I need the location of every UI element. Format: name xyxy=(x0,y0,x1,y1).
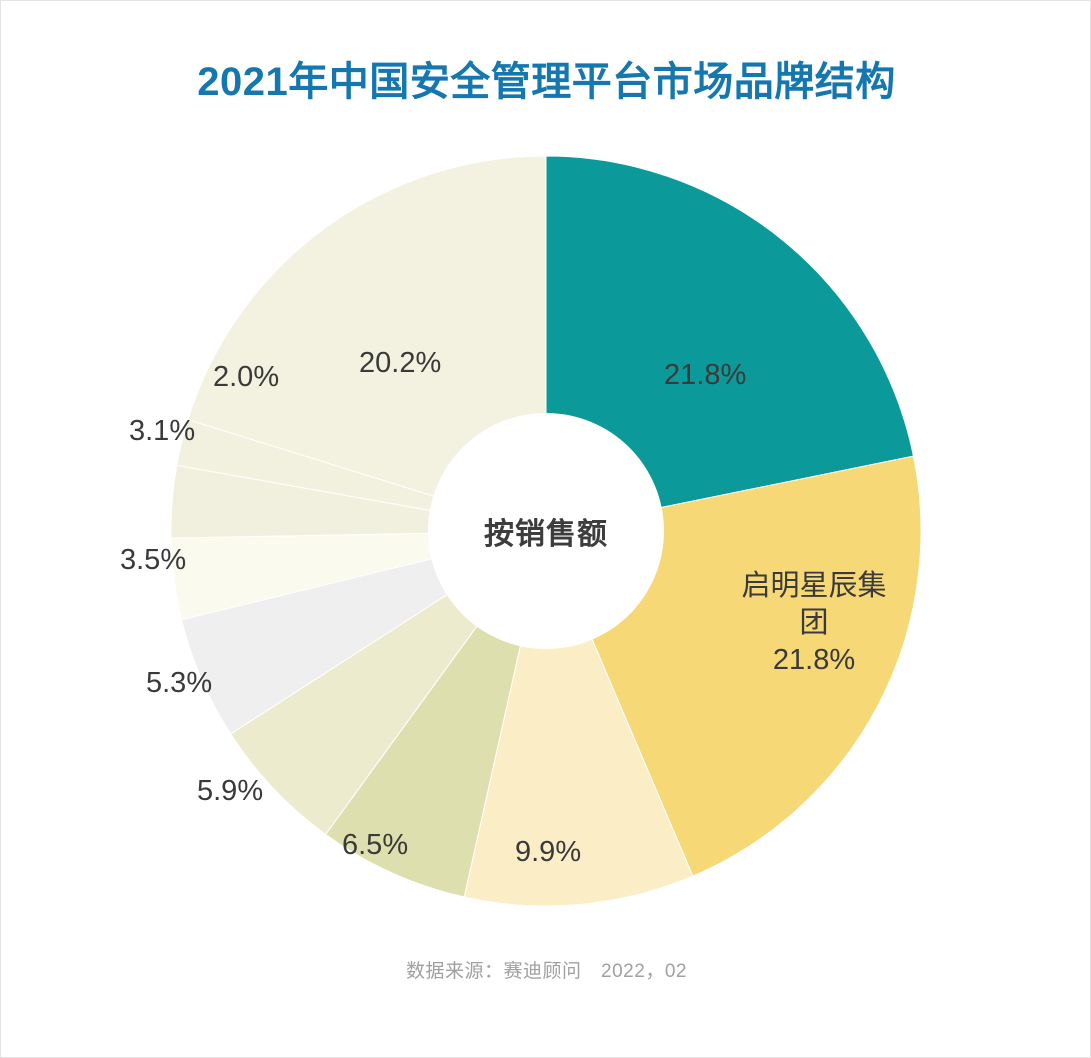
donut-chart-svg xyxy=(171,156,921,906)
slice-label-53: 5.3% xyxy=(146,665,212,702)
slice-label-31: 3.1% xyxy=(129,413,195,450)
slice-label-qiming-name-line1: 启明星辰集 xyxy=(728,568,900,605)
slice-label-qiming-name-line2: 团 xyxy=(728,605,900,642)
donut-hole xyxy=(428,413,664,649)
source-note: 数据来源：赛迪顾问 2022，02 xyxy=(1,956,1091,983)
slice-label-qiming-value: 21.8% xyxy=(728,642,900,679)
slice-label-35: 3.5% xyxy=(120,542,186,579)
slice-label-65: 6.5% xyxy=(342,827,408,864)
slice-label-99: 9.9% xyxy=(515,834,581,871)
slice-label-20: 2.0% xyxy=(213,359,279,396)
slice-label-202: 20.2% xyxy=(359,345,441,382)
chart-canvas: 2021年中国安全管理平台市场品牌结构 按销售额 21.8% 启明星辰集 团 2… xyxy=(0,0,1091,1058)
slice-label-qiming: 启明星辰集 团 21.8% xyxy=(728,568,900,679)
slice-label-59: 5.9% xyxy=(197,773,263,810)
page-title: 2021年中国安全管理平台市场品牌结构 xyxy=(1,49,1091,107)
slice-label-teal-218: 21.8% xyxy=(664,357,746,394)
donut-chart: 按销售额 xyxy=(171,156,921,906)
